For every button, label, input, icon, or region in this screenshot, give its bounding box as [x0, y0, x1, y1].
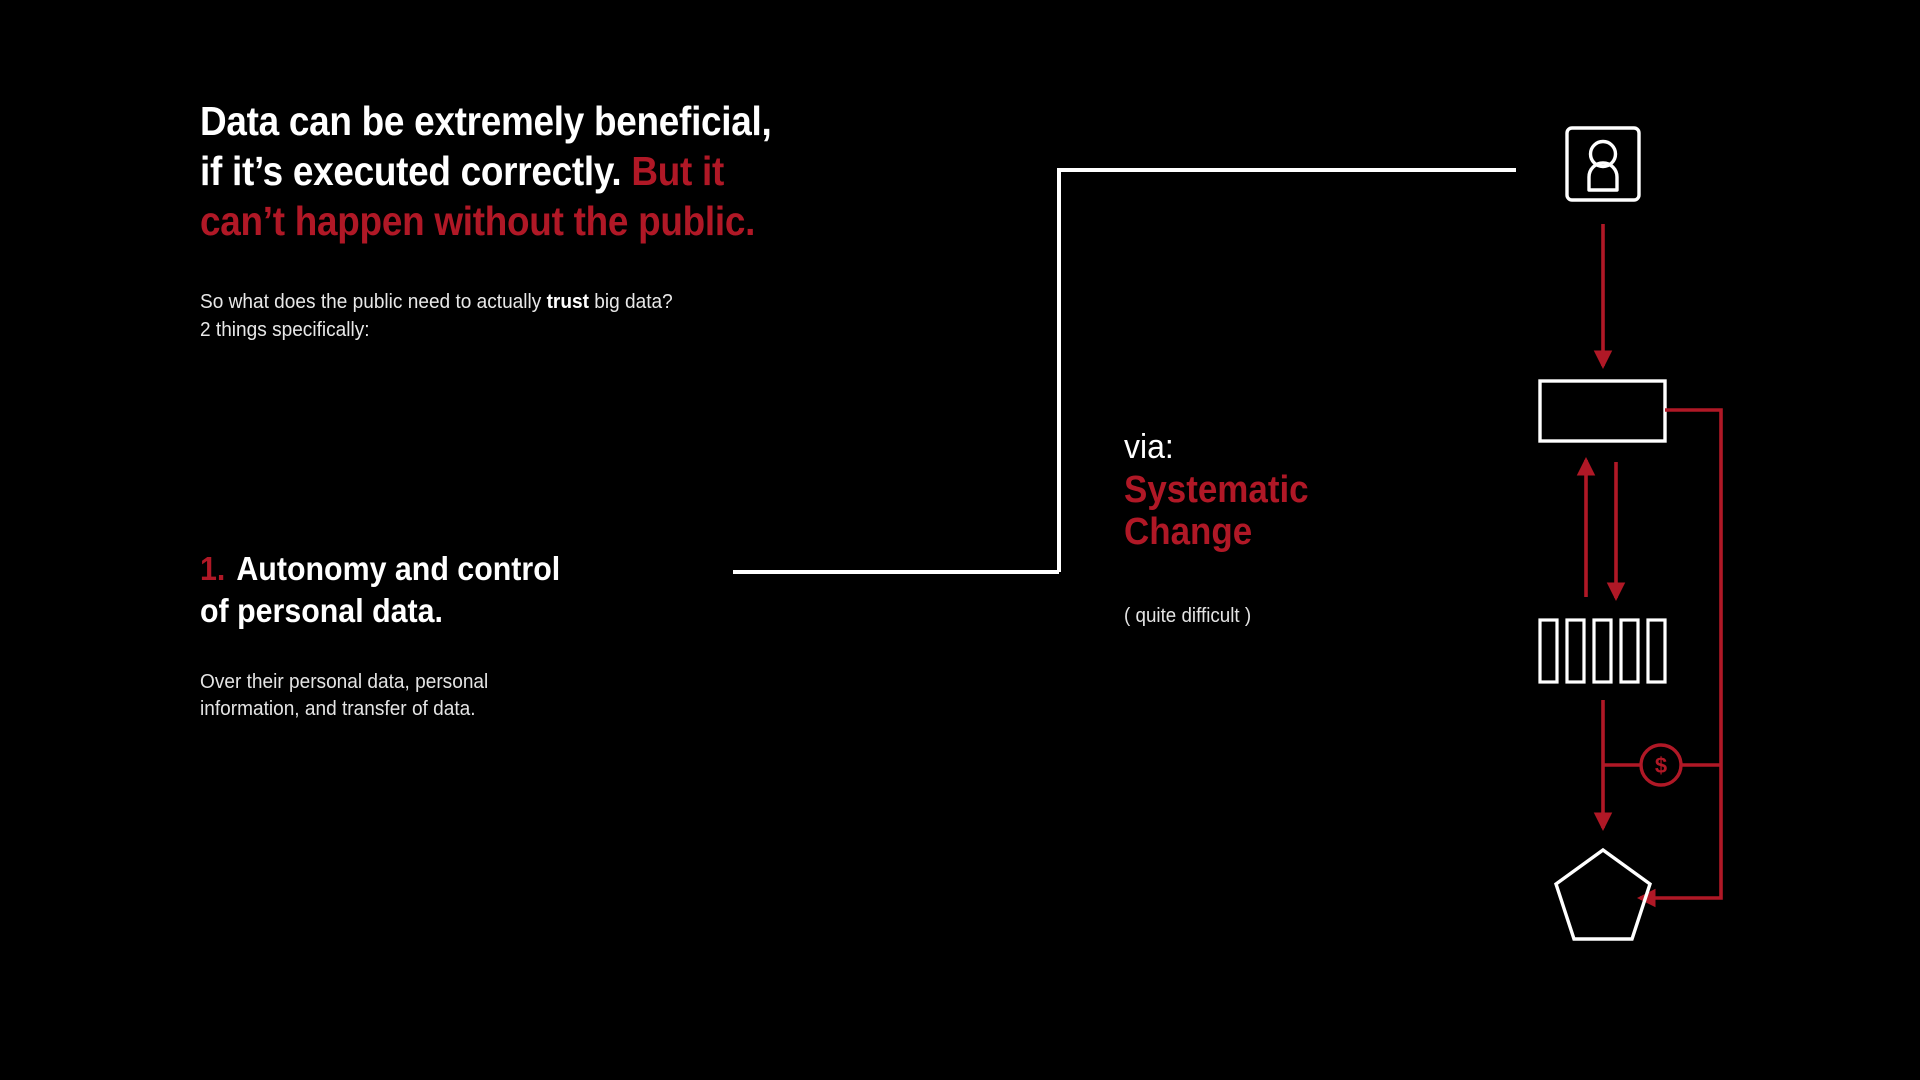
flow-diagram: $ — [0, 0, 1920, 1080]
node-money: $ — [1603, 745, 1721, 785]
bar-4 — [1621, 620, 1638, 682]
node-person — [1567, 128, 1639, 200]
dollar-symbol: $ — [1655, 753, 1667, 778]
bar-3 — [1594, 620, 1611, 682]
bar-2 — [1567, 620, 1584, 682]
connector-white-top — [1059, 170, 1516, 572]
bar-5 — [1648, 620, 1665, 682]
infographic-canvas: Data can be extremely beneficial, if it’… — [0, 0, 1920, 1080]
feedback-loop-to-pentagon — [1640, 410, 1721, 898]
node-bars — [1540, 620, 1665, 682]
bar-1 — [1540, 620, 1557, 682]
node-pentagon — [1556, 850, 1650, 939]
node-rectangle — [1540, 381, 1665, 441]
